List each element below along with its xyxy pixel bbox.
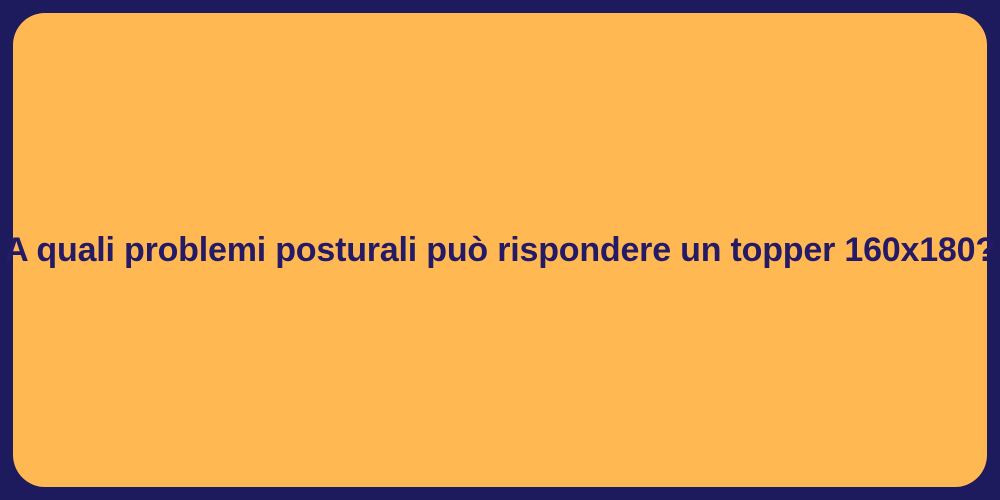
page-frame: A quali problemi posturali può risponder… — [0, 0, 1000, 500]
question-heading: A quali problemi posturali può risponder… — [0, 229, 1000, 272]
question-card: A quali problemi posturali può risponder… — [13, 13, 987, 487]
